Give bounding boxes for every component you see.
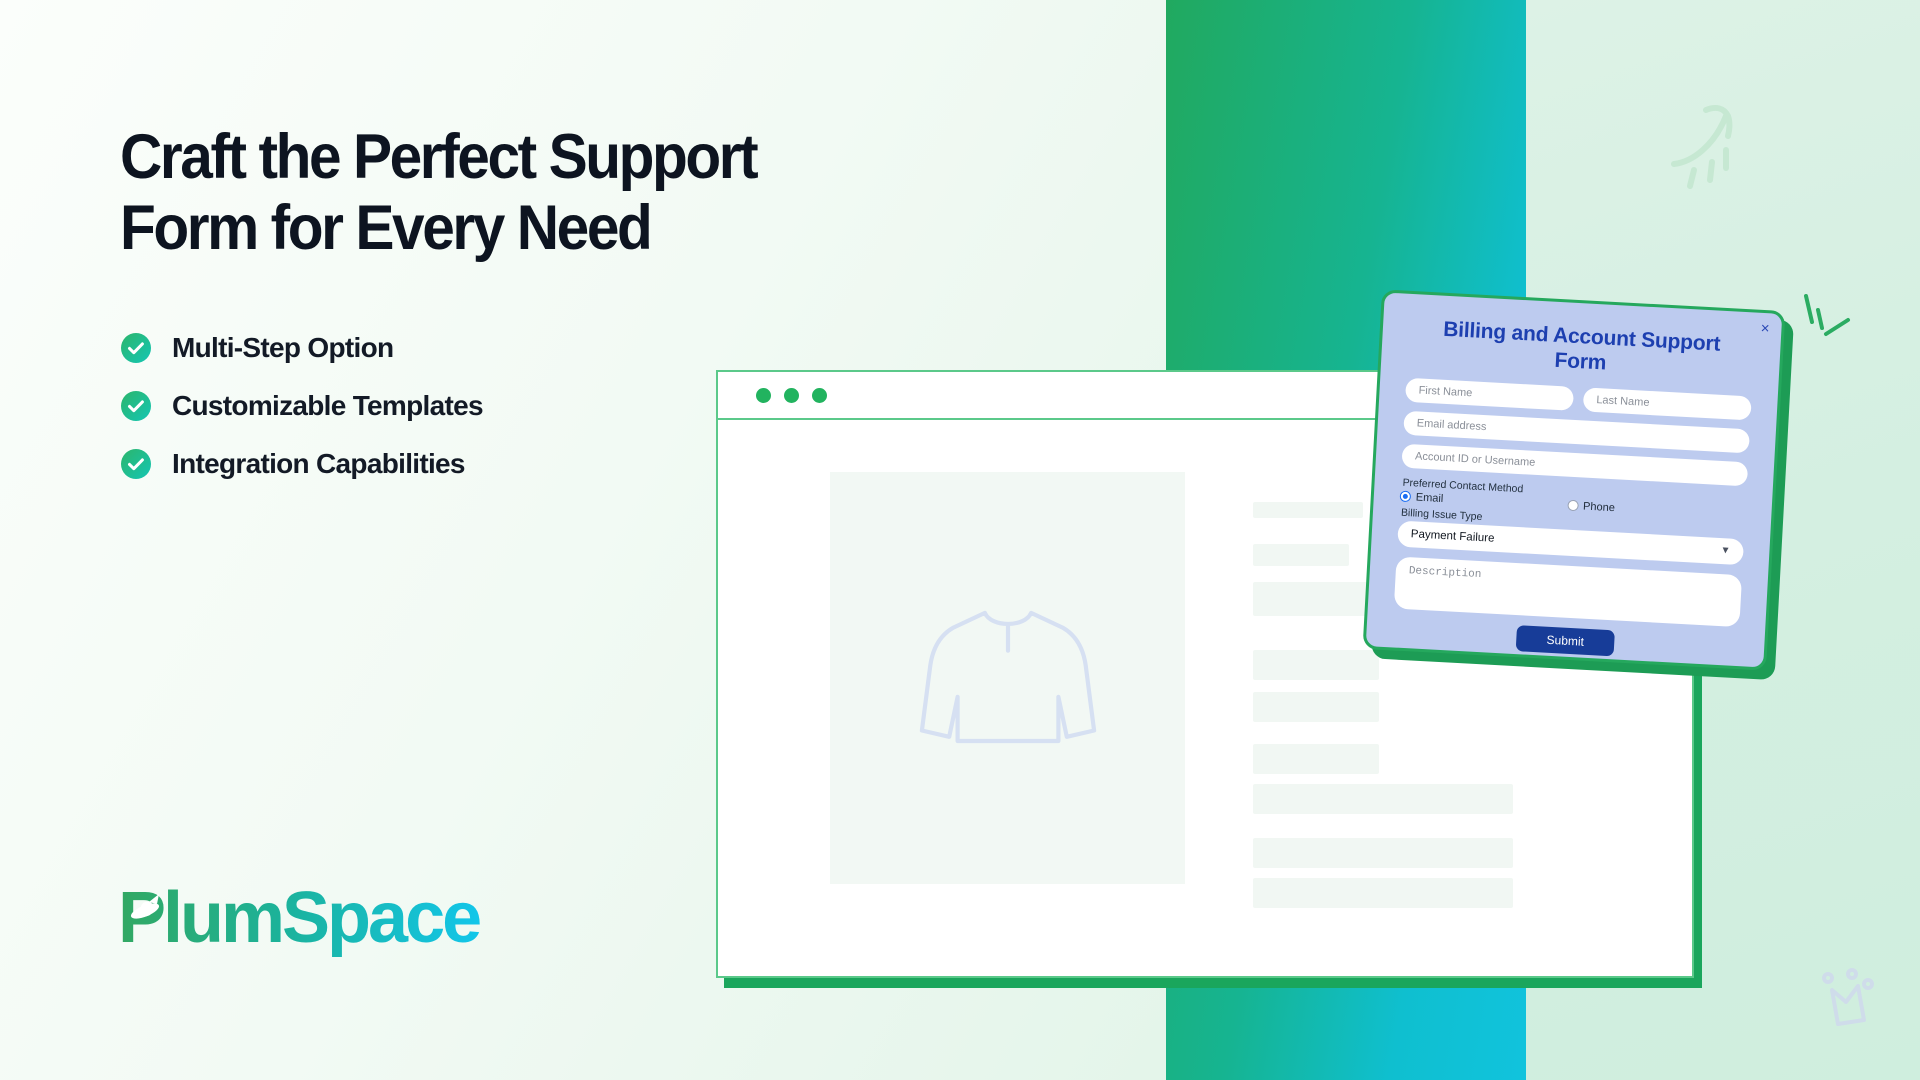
list-item-label: Multi-Step Option (172, 332, 393, 364)
radio-phone-label: Phone (1583, 500, 1615, 514)
description-textarea[interactable]: Description (1394, 556, 1742, 627)
list-item-label: Integration Capabilities (172, 448, 465, 480)
check-circle-icon (120, 332, 152, 364)
radio-email-label: Email (1416, 491, 1444, 504)
form-title: Billing and Account Support Form (1421, 317, 1741, 384)
skeleton-bar (1253, 784, 1513, 814)
last-name-input[interactable]: Last Name (1583, 387, 1752, 420)
skeleton-bar (1253, 582, 1379, 616)
submit-button[interactable]: Submit (1516, 625, 1615, 656)
list-item: Customizable Templates (120, 390, 483, 422)
window-dot-3 (812, 388, 827, 403)
radio-option-email[interactable]: Email (1400, 490, 1444, 504)
chevron-down-icon: ▼ (1720, 545, 1730, 557)
page-title: Craft the Perfect Support Form for Every… (120, 122, 855, 263)
window-dot-2 (784, 388, 799, 403)
first-name-input[interactable]: First Name (1405, 377, 1574, 410)
list-item: Integration Capabilities (120, 448, 483, 480)
plumspace-logo-icon: PlumSpace (118, 880, 528, 960)
product-image-placeholder (830, 472, 1185, 884)
skeleton-bar (1253, 692, 1379, 722)
skeleton-bar (1253, 502, 1363, 518)
skeleton-bar (1253, 744, 1379, 774)
feature-list: Multi-Step Option Customizable Templates… (120, 332, 483, 480)
list-item-label: Customizable Templates (172, 390, 483, 422)
close-icon[interactable]: × (1760, 321, 1770, 336)
skeleton-bar (1253, 650, 1379, 680)
radio-option-phone[interactable]: Phone (1567, 499, 1615, 514)
skeleton-bar (1253, 544, 1349, 566)
brand-logo: PlumSpace (118, 880, 528, 960)
check-circle-icon (120, 390, 152, 422)
radio-phone-icon[interactable] (1567, 500, 1579, 512)
support-form-dialog: × Billing and Account Support Form First… (1363, 289, 1786, 670)
radio-email-icon[interactable] (1400, 491, 1412, 503)
list-item: Multi-Step Option (120, 332, 483, 364)
promo-banner: Craft the Perfect Support Form for Every… (0, 0, 1920, 1080)
long-sleeve-shirt-icon (903, 573, 1113, 783)
skeleton-bar (1253, 838, 1513, 868)
window-dot-1 (756, 388, 771, 403)
check-circle-icon (120, 448, 152, 480)
skeleton-bar (1253, 878, 1513, 908)
svg-text:PlumSpace: PlumSpace (118, 880, 480, 958)
issue-type-value: Payment Failure (1411, 528, 1495, 545)
